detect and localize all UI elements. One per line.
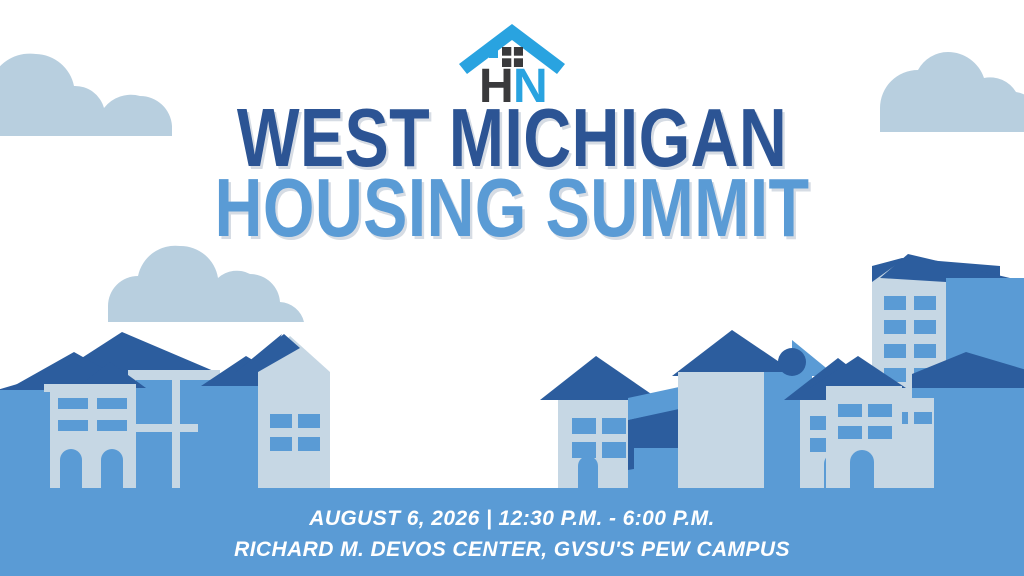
headline-line-2: HOUSING SUMMIT xyxy=(102,174,921,242)
event-details: AUGUST 6, 2026 | 12:30 P.M. - 6:00 P.M. … xyxy=(0,507,1024,562)
poster-canvas: H N WEST MICHIGAN HOUSING SUMMIT AUGUST … xyxy=(0,0,1024,576)
civic-round-window xyxy=(778,348,806,376)
event-venue: RICHARD M. DEVOS CENTER, GVSU'S PEW CAMP… xyxy=(0,538,1024,562)
left-ground-band xyxy=(0,392,50,490)
page-title: WEST MICHIGAN HOUSING SUMMIT xyxy=(0,104,1024,242)
logo-chimney xyxy=(489,42,498,58)
event-datetime: AUGUST 6, 2026 | 12:30 P.M. - 6:00 P.M. xyxy=(0,507,1024,531)
